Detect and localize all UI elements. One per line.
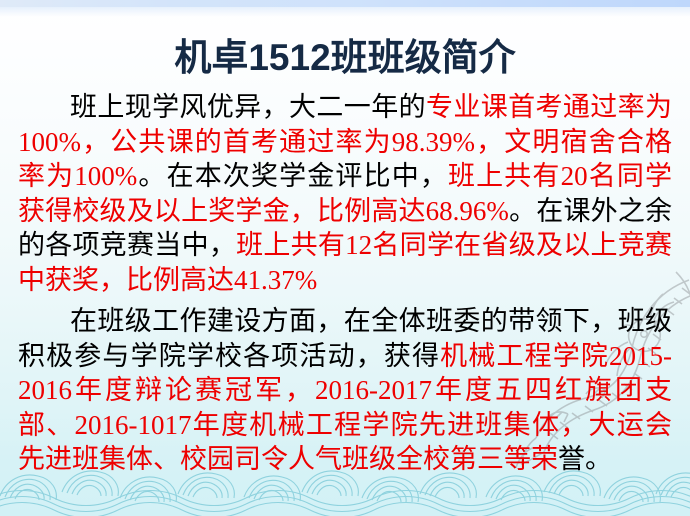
paragraph-2: 在班级工作建设方面，在全体班委的带领下，班级积极参与学院学校各项活动，获得机械工… [18,304,672,477]
slide-content: 机卓1512班班级简介 班上现学风优异，大二一年的专业课首考通过率为100%，公… [0,0,690,516]
paragraph-1: 班上现学风优异，大二一年的专业课首考通过率为100%，公共课的首考通过率为98.… [18,90,672,297]
slide-body: 班上现学风优异，大二一年的专业课首考通过率为100%，公共课的首考通过率为98.… [18,90,672,477]
run-2-3: 誉。 [558,444,612,474]
presentation-slide: 机卓1512班班级简介 班上现学风优异，大二一年的专业课首考通过率为100%，公… [0,0,690,516]
run-1-1: 班上现学风优异，大二一年的 [70,92,426,122]
slide-title: 机卓1512班班级简介 [0,36,690,80]
run-1-3: 。在本次奖学金评比中， [137,161,448,191]
